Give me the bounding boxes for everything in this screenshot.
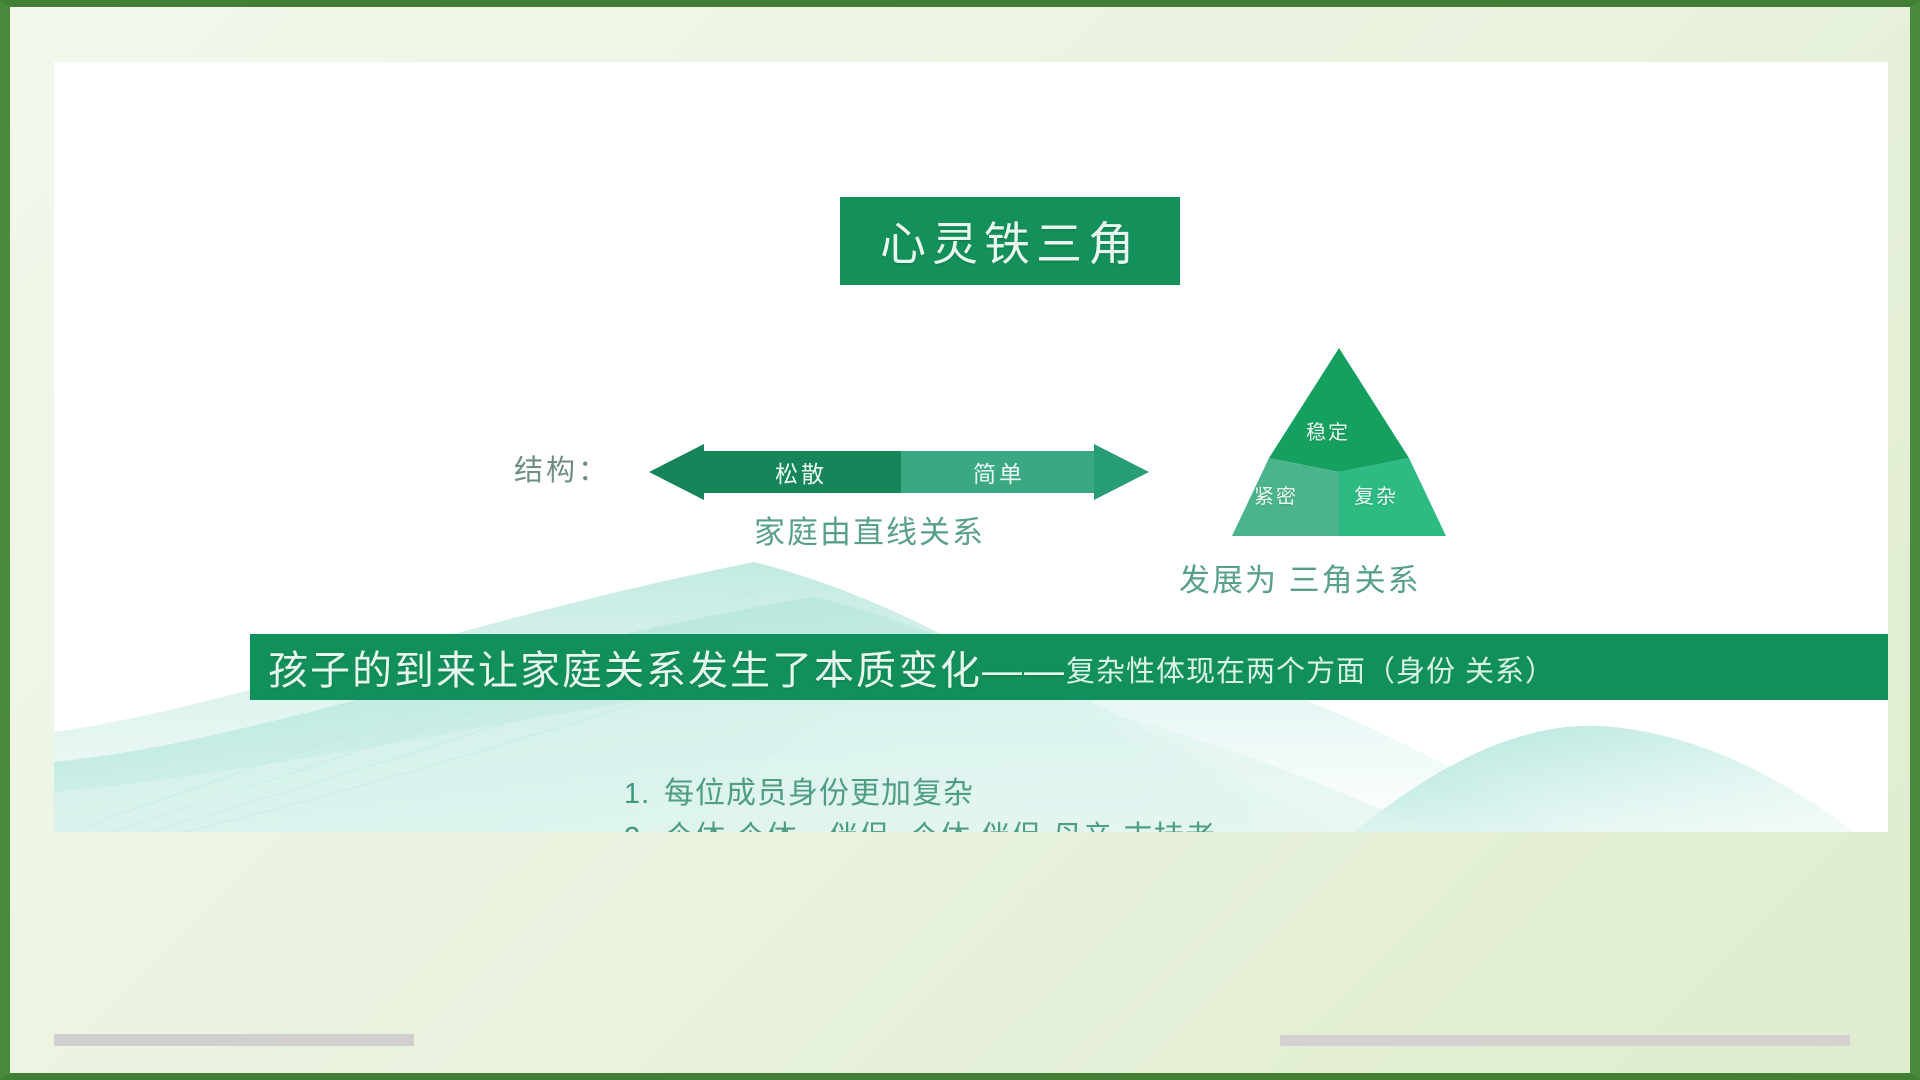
list-item-text: 个体 个体、伴侣 个体 伴侣 母亲 支持者 xyxy=(664,818,1216,832)
arrow-left-head-icon xyxy=(649,444,704,500)
list-item: 2. 个体 个体、伴侣 个体 伴侣 母亲 支持者 xyxy=(624,818,1455,832)
structure-arrow: 松散 简单 xyxy=(649,444,1149,500)
highlight-banner: 孩子的到来让家庭关系发生了本质变化—— 复杂性体现在两个方面（身份 关系） xyxy=(250,634,1888,700)
banner-main-text: 孩子的到来让家庭关系发生了本质变化—— xyxy=(250,638,1066,696)
list-item-number: 1. xyxy=(624,775,664,813)
banner-tail-text: 复杂性体现在两个方面（身份 关系） xyxy=(1066,648,1555,700)
slide-frame: 心灵铁三角 结构： 松散 简单 家庭由直线关系 稳定 紧密 复杂 发展为 三角关… xyxy=(0,0,1920,1080)
arrow-segment-simple: 简单 xyxy=(901,451,1097,493)
arrow-segment-loose: 松散 xyxy=(701,451,901,493)
list-item-text: 每位成员身份更加复杂 xyxy=(664,774,974,814)
triangle-caption: 发展为 三角关系 xyxy=(1179,555,1421,600)
numbered-list: 1. 每位成员身份更加复杂 2. 个体 个体、伴侣 个体 伴侣 母亲 支持者 3… xyxy=(624,774,1455,832)
triangle-diagram: 稳定 紧密 复杂 xyxy=(1214,340,1464,550)
list-item: 1. 每位成员身份更加复杂 xyxy=(624,774,1455,814)
list-item-number: 2. xyxy=(624,819,664,832)
triangle-label-complex: 复杂 xyxy=(1354,480,1398,509)
slide-title-box: 心灵铁三角 xyxy=(840,197,1180,285)
arrow-right-head-icon xyxy=(1094,444,1149,500)
structure-caption: 家庭由直线关系 xyxy=(754,507,985,552)
slide-canvas: 心灵铁三角 结构： 松散 简单 家庭由直线关系 稳定 紧密 复杂 发展为 三角关… xyxy=(54,62,1888,832)
decorative-bar-left xyxy=(54,1034,414,1046)
triangle-shape-icon xyxy=(1214,340,1464,550)
page-title: 心灵铁三角 xyxy=(880,208,1140,274)
triangle-label-stable: 稳定 xyxy=(1306,416,1350,445)
decorative-bar-right xyxy=(1280,1035,1850,1046)
structure-label: 结构： xyxy=(514,447,610,489)
triangle-label-close: 紧密 xyxy=(1254,480,1298,509)
